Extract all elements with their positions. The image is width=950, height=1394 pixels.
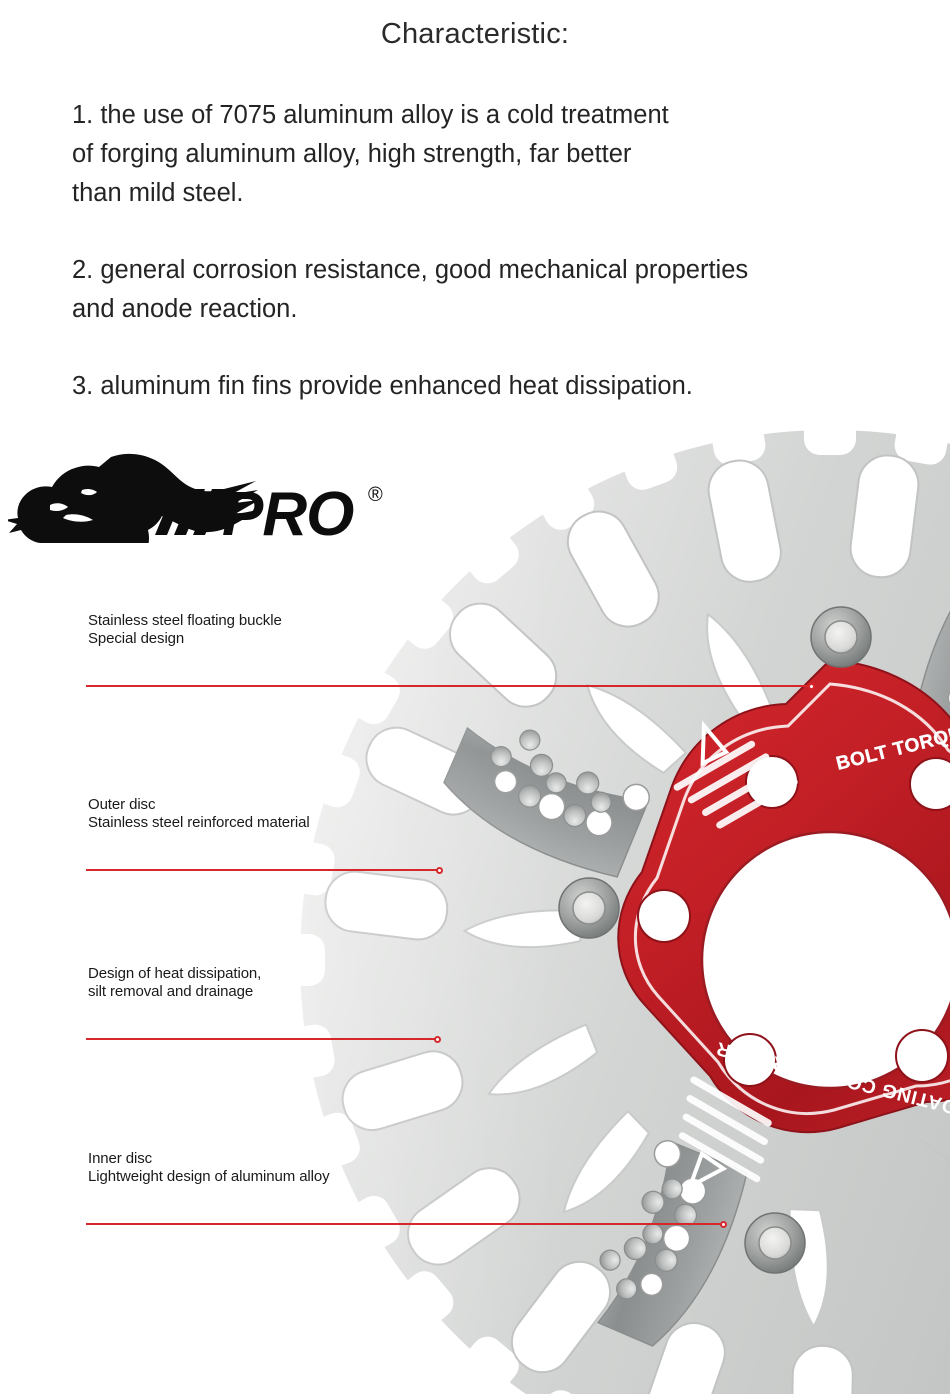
feature-item-2: 2. general corrosion resistance, good me… [72, 251, 902, 329]
callout-heat-dissipation: Design of heat dissipation, silt removal… [86, 965, 261, 1000]
callout-1-text: Stainless steel floating buckle Special … [88, 612, 282, 647]
registered-mark: ® [368, 484, 383, 506]
logo-pro-text: PRO [222, 480, 354, 543]
callout-2-dot [436, 867, 443, 874]
page-title: Characteristic: [0, 18, 950, 51]
callout-1-rule [86, 685, 812, 687]
callout-outer-disc: Outer disc Stainless steel reinforced ma… [86, 796, 310, 831]
callout-2-text: Outer disc Stainless steel reinforced ma… [88, 796, 310, 831]
product-photo: ROTATION BOLT TORQUE 55 in- FLOATING COO… [0, 430, 950, 1394]
callout-4-dot [720, 1221, 727, 1228]
callout-4-text: Inner disc Lightweight design of aluminu… [88, 1150, 330, 1185]
callout-2-rule [86, 869, 440, 871]
feature-list: 1. the use of 7075 aluminum alloy is a c… [72, 96, 902, 406]
callout-inner-disc: Inner disc Lightweight design of aluminu… [86, 1150, 330, 1185]
callout-3-text: Design of heat dissipation, silt removal… [88, 965, 261, 1000]
feature-item-1: 1. the use of 7075 aluminum alloy is a c… [72, 96, 902, 213]
brand-logo: PRO ® [8, 443, 403, 543]
callout-3-dot [434, 1036, 441, 1043]
callout-stainless-steel-floating-buckle: Stainless steel floating buckle Special … [86, 612, 282, 647]
callout-1-dot [808, 683, 815, 690]
callout-3-rule [86, 1038, 438, 1040]
callout-4-rule [86, 1223, 724, 1225]
feature-item-3: 3. aluminum fin fins provide enhanced he… [72, 367, 902, 406]
